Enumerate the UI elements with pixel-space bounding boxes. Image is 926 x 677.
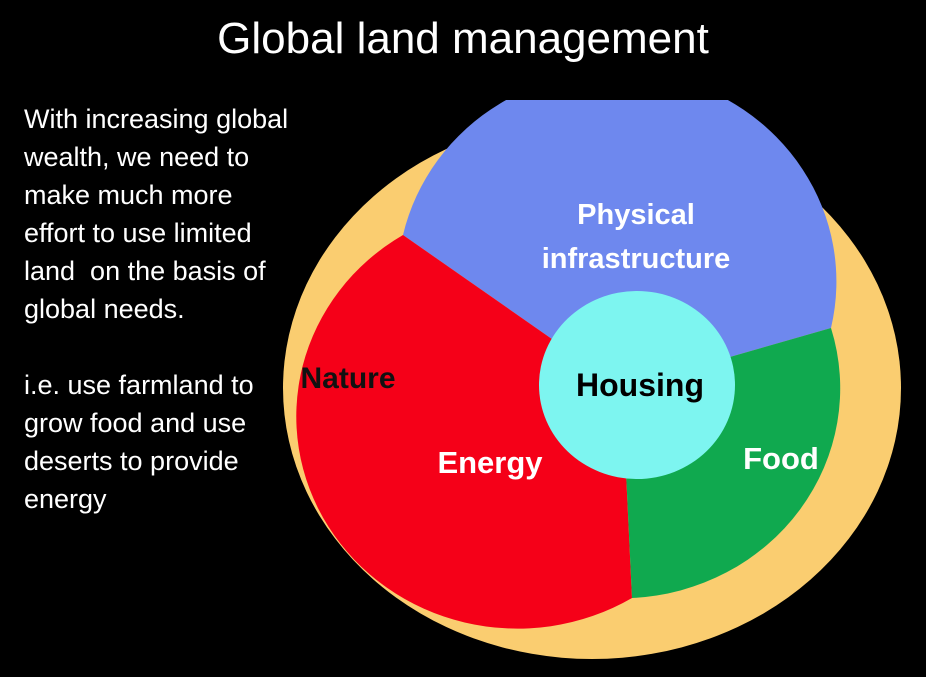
slide-canvas: Global land management With increasing g… (0, 0, 926, 677)
middle-segment-label-physical-infrastructure-line1: Physical (577, 199, 695, 231)
land-management-diagram: Nature Physical infrastructure Energy Fo… (270, 100, 926, 677)
middle-segment-label-energy: Energy (437, 445, 543, 480)
outer-ring-label-nature: Nature (300, 362, 395, 395)
body-text-block: With increasing global wealth, we need t… (24, 100, 292, 518)
middle-segment-label-physical-infrastructure-line2: infrastructure (542, 243, 731, 275)
middle-segment-label-food: Food (743, 441, 819, 476)
center-circle-label-housing: Housing (576, 367, 704, 403)
body-paragraph-2: i.e. use farmland to grow food and use d… (24, 366, 292, 518)
diagram-svg: Nature Physical infrastructure Energy Fo… (270, 100, 926, 677)
body-paragraph-1: With increasing global wealth, we need t… (24, 100, 292, 328)
page-title: Global land management (0, 14, 926, 64)
